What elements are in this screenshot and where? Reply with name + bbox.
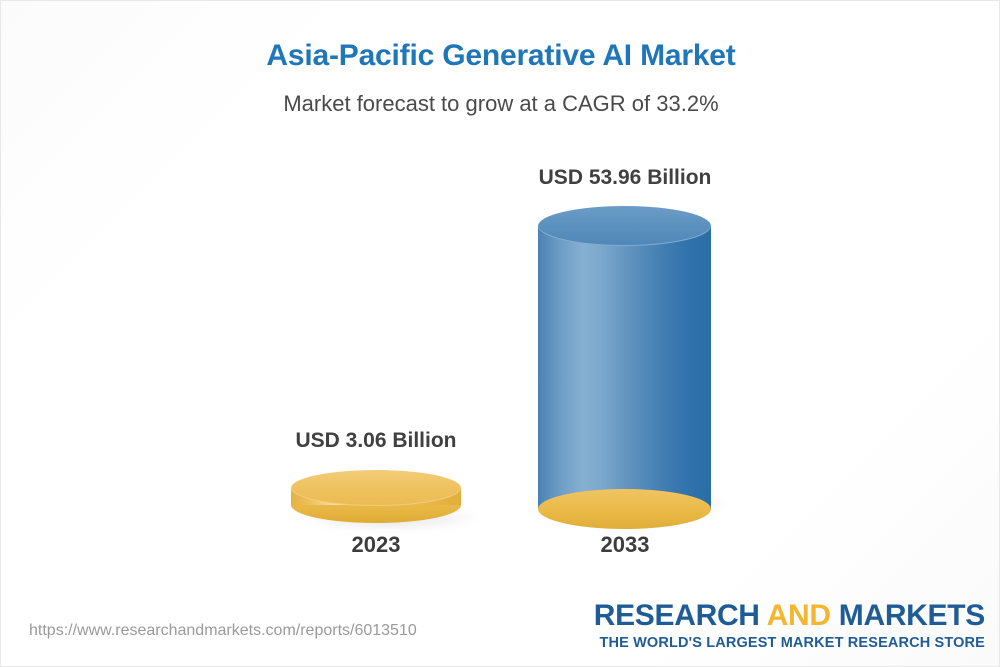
value-label-2023: USD 3.06 Billion bbox=[236, 429, 516, 453]
value-label-2033: USD 53.96 Billion bbox=[485, 166, 765, 190]
bar-top-ellipse-2023 bbox=[291, 470, 461, 506]
logo-word-and: AND bbox=[767, 599, 831, 632]
logo-word-markets: MARKETS bbox=[839, 599, 985, 632]
logo-tagline: THE WORLD'S LARGEST MARKET RESEARCH STOR… bbox=[594, 636, 985, 651]
bar-2023 bbox=[291, 470, 461, 524]
logo-wordmark: RESEARCH AND MARKETS bbox=[594, 601, 985, 631]
category-label-2023: 2023 bbox=[236, 532, 516, 558]
bar-2033 bbox=[538, 206, 711, 509]
bar-body-2033 bbox=[538, 226, 711, 509]
report-url[interactable]: https://www.researchandmarkets.com/repor… bbox=[29, 622, 417, 640]
chart-canvas: Asia-Pacific Generative AI Market Market… bbox=[0, 0, 1000, 667]
logo-word-research: RESEARCH bbox=[594, 599, 760, 632]
category-label-2033: 2033 bbox=[485, 532, 765, 558]
chart-subtitle: Market forecast to grow at a CAGR of 33.… bbox=[1, 91, 1000, 117]
bar-top-ellipse-2033 bbox=[538, 206, 711, 246]
research-and-markets-logo: RESEARCH AND MARKETS THE WORLD'S LARGEST… bbox=[594, 601, 985, 651]
bar-base-body-2033 bbox=[538, 489, 711, 509]
chart-title: Asia-Pacific Generative AI Market bbox=[1, 39, 1000, 73]
